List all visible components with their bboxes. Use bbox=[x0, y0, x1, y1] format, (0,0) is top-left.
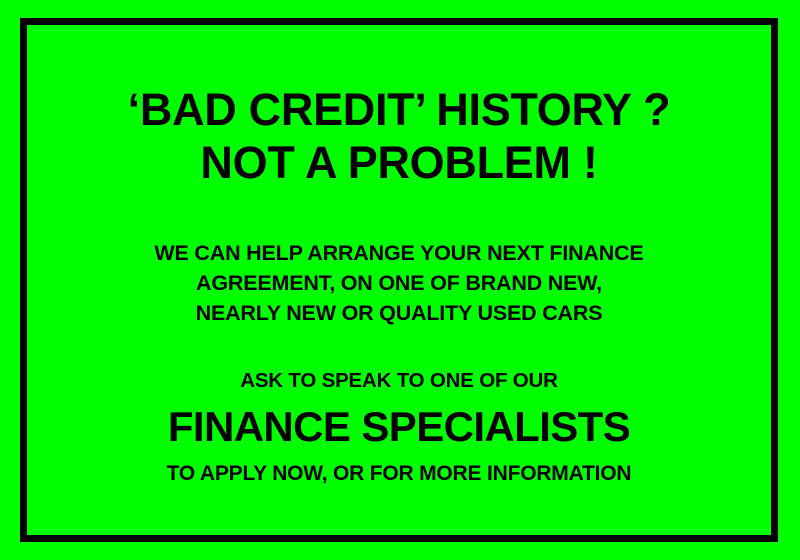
body-line-1: WE CAN HELP ARRANGE YOUR NEXT FINANCE bbox=[27, 239, 771, 269]
poster-content: ‘BAD CREDIT’ HISTORY ? NOT A PROBLEM ! W… bbox=[27, 25, 771, 535]
cta-highlight: FINANCE SPECIALISTS bbox=[27, 401, 771, 452]
cta-footer: TO APPLY NOW, OR FOR MORE INFORMATION bbox=[27, 460, 771, 487]
headline-line-1: ‘BAD CREDIT’ HISTORY ? bbox=[27, 83, 771, 136]
cta-lead-in: ASK TO SPEAK TO ONE OF OUR bbox=[27, 368, 771, 395]
headline-line-2: NOT A PROBLEM ! bbox=[27, 136, 771, 189]
advert-poster: ‘BAD CREDIT’ HISTORY ? NOT A PROBLEM ! W… bbox=[0, 0, 800, 560]
body-line-2: AGREEMENT, ON ONE OF BRAND NEW, bbox=[27, 269, 771, 299]
call-to-action-block: ASK TO SPEAK TO ONE OF OUR FINANCE SPECI… bbox=[27, 368, 771, 487]
body-line-3: NEARLY NEW OR QUALITY USED CARS bbox=[27, 299, 771, 329]
body-copy-block: WE CAN HELP ARRANGE YOUR NEXT FINANCE AG… bbox=[27, 239, 771, 328]
headline-block: ‘BAD CREDIT’ HISTORY ? NOT A PROBLEM ! bbox=[27, 83, 771, 189]
